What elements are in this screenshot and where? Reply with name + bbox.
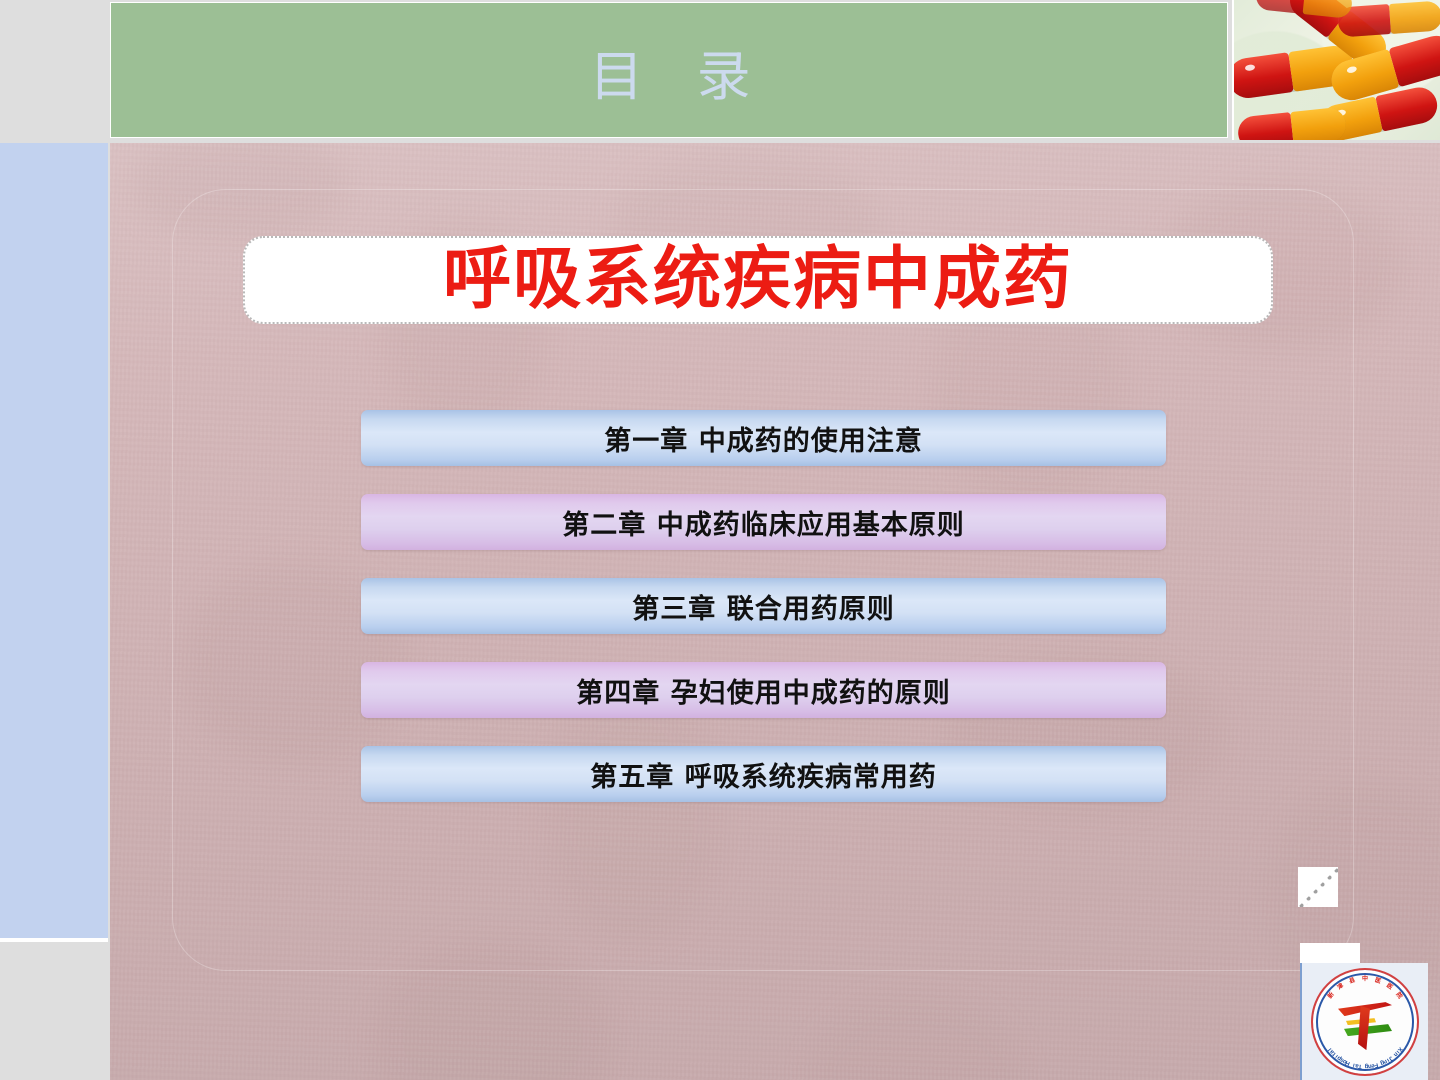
slide-canvas: 目 录 呼吸系统疾病中成药: [0, 0, 1440, 1080]
left-rail-gray-bottom: [0, 942, 108, 1080]
dotted-diagonal-line-icon: [1298, 867, 1338, 907]
hospital-logo-brushmark-icon: [1334, 998, 1396, 1050]
left-rail-gray-top: [0, 0, 108, 142]
toc-item-label: 第五章 呼吸系统疾病常用药: [590, 755, 936, 794]
toc-item-chapter-4[interactable]: 第四章 孕妇使用中成药的原则: [361, 662, 1166, 718]
capsule-photo: [1232, 0, 1440, 140]
toc-item-chapter-3[interactable]: 第三章 联合用药原则: [361, 578, 1166, 634]
toc-item-label: 第三章 联合用药原则: [632, 587, 894, 626]
logo-white-tab: [1300, 943, 1360, 965]
header-title: 目 录: [111, 3, 1229, 139]
dotted-diagonal-marker: [1298, 867, 1338, 907]
toc-item-chapter-5[interactable]: 第五章 呼吸系统疾病常用药: [361, 746, 1166, 802]
hospital-logo: 新津县中医医院 Xin Jing Feng Tai Hospital: [1300, 963, 1428, 1080]
toc-item-label: 第二章 中成药临床应用基本原则: [562, 503, 964, 542]
toc-item-chapter-1[interactable]: 第一章 中成药的使用注意: [361, 410, 1166, 466]
toc-item-label: 第一章 中成药的使用注意: [604, 419, 922, 458]
header-band: 目 录: [110, 2, 1228, 138]
hospital-logo-circle: 新津县中医医院 Xin Jing Feng Tai Hospital: [1311, 968, 1419, 1076]
toc-item-label: 第四章 孕妇使用中成药的原则: [576, 671, 950, 710]
toc-item-chapter-2[interactable]: 第二章 中成药临床应用基本原则: [361, 494, 1166, 550]
main-title-plate: 呼吸系统疾病中成药: [243, 236, 1273, 324]
left-rail-blue: [0, 143, 108, 938]
table-of-contents: 第一章 中成药的使用注意 第二章 中成药临床应用基本原则 第三章 联合用药原则 …: [361, 410, 1166, 830]
page-title: 呼吸系统疾病中成药: [443, 246, 1073, 314]
slide-body: 呼吸系统疾病中成药 第一章 中成药的使用注意 第二章 中成药临床应用基本原则 第…: [110, 143, 1440, 1080]
